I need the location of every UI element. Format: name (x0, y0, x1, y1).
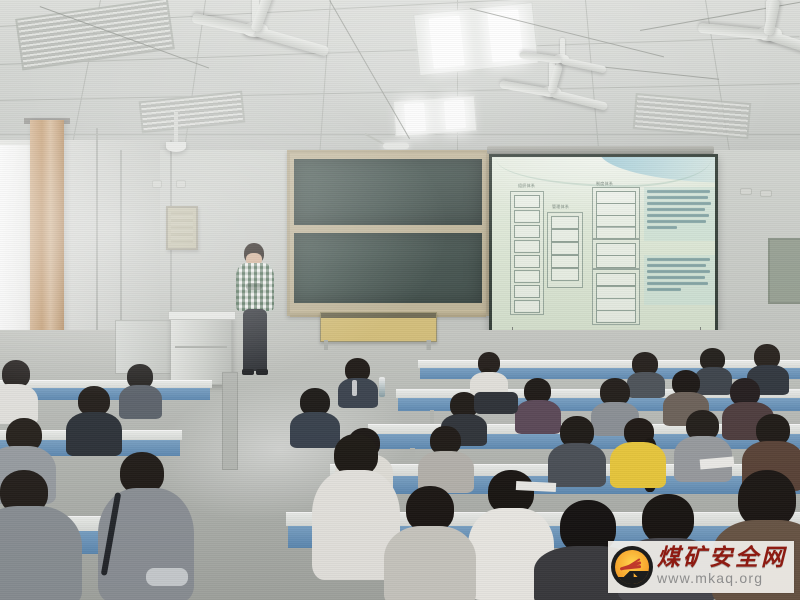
slide-text-block-bottom (644, 255, 716, 305)
flow-column-3 (592, 187, 640, 239)
wall-plate-2 (176, 180, 186, 188)
suspended-ceiling (0, 0, 800, 160)
screen-roller-housing (487, 146, 714, 154)
mkaq-watermark: 煤矿安全网 www.mkaq.org (608, 541, 794, 593)
wall-notice-board-left (166, 206, 198, 250)
lecturer-shoe (242, 369, 254, 375)
presentation-slide: 组织体系 管理体系 制度体系 (492, 157, 715, 330)
backpack (474, 392, 518, 414)
light-tube (444, 100, 467, 130)
flow-column-4 (592, 239, 640, 269)
lecturer-trousers (243, 309, 267, 371)
flow-column-2 (547, 212, 583, 288)
flow-column-1-title: 组织体系 (518, 183, 535, 189)
logo-ground (615, 577, 649, 584)
wall-plate-4 (760, 190, 772, 197)
classroom-photo: 组织体系 管理体系 制度体系 (0, 0, 800, 600)
wall-plate-3 (740, 188, 752, 195)
flow-column-2-title: 管理体系 (552, 204, 569, 210)
board-lamp-icon (383, 143, 409, 149)
watermark-text: 煤矿安全网 www.mkaq.org (653, 547, 794, 586)
lecturer-shoe (256, 369, 268, 375)
podium-shelf (175, 346, 227, 348)
shoe (146, 568, 188, 586)
blackboard (287, 150, 489, 316)
water-bottle (352, 380, 357, 396)
pendant-rod (174, 112, 178, 144)
lecturer (233, 243, 277, 391)
projection-screen[interactable]: 组织体系 管理体系 制度体系 (489, 154, 718, 333)
front-table-legs (324, 340, 431, 350)
coal-mine-sunburst-logo-icon (611, 546, 653, 588)
light-tube (404, 102, 427, 132)
watermark-url: www.mkaq.org (657, 571, 794, 586)
blackboard-upper-panel (294, 159, 482, 225)
wall-notice-board-right (768, 238, 800, 304)
notice-content (171, 212, 193, 244)
slide-text-block-top (644, 187, 716, 241)
podium-top (168, 311, 236, 320)
water-bottle (379, 377, 385, 397)
light-tube (429, 15, 465, 68)
logo-sun-disc (615, 550, 649, 584)
flow-column-5 (592, 269, 640, 325)
flow-column-1 (510, 191, 544, 315)
pendant-lamp-icon (166, 142, 186, 152)
front-table (320, 312, 437, 342)
wall-plate-1 (152, 180, 162, 188)
fluorescent-panel-light-1 (413, 2, 539, 76)
watermark-brand-cn: 煤矿安全网 (657, 547, 794, 570)
blackboard-lower-panel (294, 233, 482, 303)
lecturer-hands (246, 283, 262, 290)
